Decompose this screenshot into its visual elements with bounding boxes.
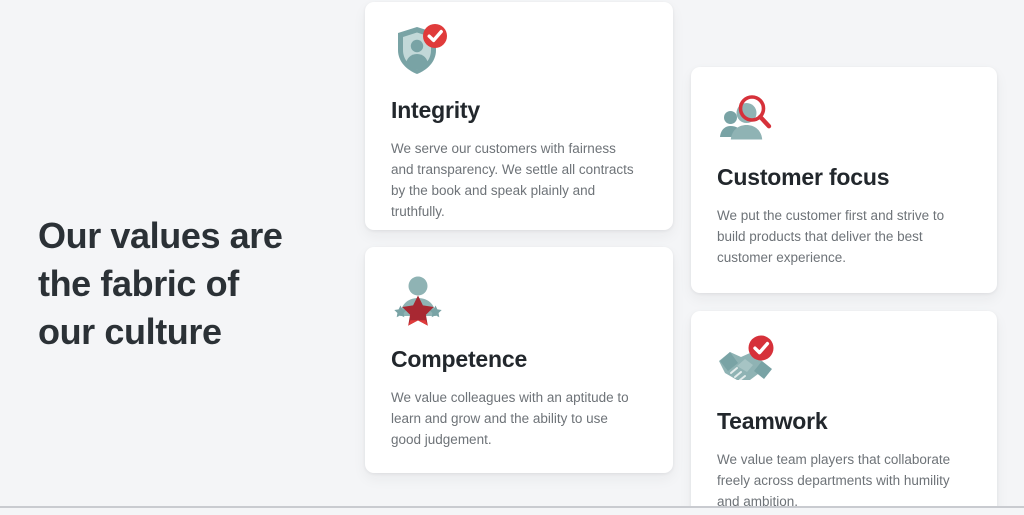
card-content: Competence We value colleagues with an a… [365, 247, 673, 473]
handshake-check-icon [717, 335, 777, 393]
card-title: Competence [391, 345, 645, 373]
value-card-teamwork[interactable]: Teamwork We value team players that coll… [691, 311, 997, 515]
values-section: Our values are the fabric of our culture… [0, 0, 1024, 515]
card-description: We value team players that collaborate f… [717, 449, 967, 512]
card-description: We put the customer first and strive to … [717, 205, 967, 268]
card-description: We value colleagues with an aptitude to … [391, 387, 641, 450]
shield-person-check-icon [391, 24, 451, 82]
person-stars-icon [391, 273, 451, 331]
value-card-competence[interactable]: Competence We value colleagues with an a… [365, 247, 673, 473]
card-content: Integrity We serve our customers with fa… [365, 2, 673, 230]
page-bottom-divider [0, 506, 1024, 515]
card-content: Customer focus We put the customer first… [691, 67, 997, 292]
card-title: Teamwork [717, 407, 969, 435]
card-title: Customer focus [717, 163, 969, 191]
page-title-line-2: the fabric of [38, 260, 338, 308]
value-card-integrity[interactable]: Integrity We serve our customers with fa… [365, 2, 673, 230]
card-title: Integrity [391, 96, 645, 124]
card-content: Teamwork We value team players that coll… [691, 311, 997, 515]
page-title: Our values are the fabric of our culture [38, 212, 338, 356]
card-description: We serve our customers with fairness and… [391, 138, 641, 222]
people-magnifier-icon [717, 91, 777, 149]
page-title-line-3: our culture [38, 308, 338, 356]
page-title-line-1: Our values are [38, 212, 338, 260]
value-card-customer-focus[interactable]: Customer focus We put the customer first… [691, 67, 997, 293]
